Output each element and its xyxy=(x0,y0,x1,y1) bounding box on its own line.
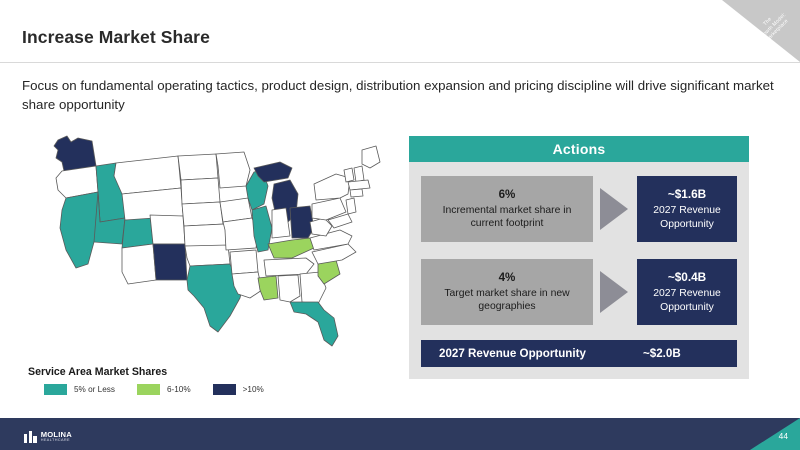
actions-body: 6% Incremental market share in current f… xyxy=(409,162,749,379)
state-arkansas xyxy=(230,250,258,274)
state-kentucky xyxy=(268,238,314,258)
actions-panel: Actions 6% Incremental market share in c… xyxy=(409,136,749,379)
legend-title: Service Area Market Shares xyxy=(28,366,368,378)
legend-item-5-or-less: 5% or Less xyxy=(44,384,115,395)
arrow-right-shape xyxy=(600,188,628,230)
action-value-sublabel: 2027 Revenue Opportunity xyxy=(637,204,737,231)
logo-tagline: HEALTHCARE xyxy=(41,439,72,443)
state-california xyxy=(60,192,100,268)
map-legend: Service Area Market Shares 5% or Less 6-… xyxy=(28,366,368,395)
state-minnesota xyxy=(216,152,250,188)
us-market-share-map xyxy=(18,132,390,360)
actions-total-bar: 2027 Revenue Opportunity ~$2.0B xyxy=(421,340,737,367)
state-north-dakota xyxy=(178,154,218,180)
action-description: Target market share in new geographies xyxy=(427,287,587,314)
state-new-york xyxy=(314,174,350,200)
state-florida xyxy=(290,302,338,346)
molina-healthcare-logo: MOLINA HEALTHCARE xyxy=(24,431,72,443)
logo-wordmark: MOLINA HEALTHCARE xyxy=(41,431,72,443)
state-new-hampshire xyxy=(354,166,364,182)
action-value: ~$0.4B xyxy=(668,270,706,284)
actions-header: Actions xyxy=(409,136,749,162)
state-maine xyxy=(362,146,380,168)
action-row-incremental: 6% Incremental market share in current f… xyxy=(421,176,737,242)
legend-swatch-green xyxy=(137,384,160,395)
legend-swatch-teal xyxy=(44,384,67,395)
state-massachusetts xyxy=(348,180,370,190)
corner-ribbon: The Growth Model: Marketplace xyxy=(722,0,800,62)
action-percent: 6% xyxy=(499,188,516,201)
action-description: Incremental market share in current foot… xyxy=(427,204,587,231)
logo-name: MOLINA xyxy=(41,431,72,439)
actions-total-value: ~$2.0B xyxy=(643,347,681,360)
footer-bar: MOLINA HEALTHCARE 44 xyxy=(0,418,800,450)
arrow-right-shape xyxy=(600,271,628,313)
state-oklahoma xyxy=(185,245,230,266)
legend-items: 5% or Less 6-10% >10% xyxy=(28,384,368,395)
action-value-sublabel: 2027 Revenue Opportunity xyxy=(637,287,737,314)
state-south-dakota xyxy=(181,178,220,204)
logo-bar-3 xyxy=(33,436,36,443)
page-number: 44 xyxy=(779,431,788,441)
logo-bar-2 xyxy=(29,431,32,443)
logo-people-icon xyxy=(24,431,38,443)
state-washington xyxy=(54,136,96,171)
slide-root: The Growth Model: Marketplace Increase M… xyxy=(0,0,800,450)
action-outcome-new-geographies: ~$0.4B 2027 Revenue Opportunity xyxy=(637,259,737,325)
slide-subtitle: Focus on fundamental operating tactics, … xyxy=(22,76,776,114)
actions-total-label: 2027 Revenue Opportunity xyxy=(421,347,643,360)
state-new-jersey xyxy=(346,198,356,214)
footer-accent-shape xyxy=(750,418,800,450)
legend-label-over-10: >10% xyxy=(243,385,264,394)
state-vermont xyxy=(344,168,354,182)
action-row-new-geographies: 4% Target market share in new geographie… xyxy=(421,259,737,325)
state-montana xyxy=(114,156,181,194)
action-outcome-incremental: ~$1.6B 2027 Revenue Opportunity xyxy=(637,176,737,242)
logo-bar-1 xyxy=(24,434,27,443)
legend-label-5-or-less: 5% or Less xyxy=(74,385,115,394)
legend-swatch-navy xyxy=(213,384,236,395)
arrow-right-icon xyxy=(593,259,637,325)
action-percent: 4% xyxy=(499,271,516,284)
state-connecticut xyxy=(350,189,363,197)
arrow-right-icon xyxy=(593,176,637,242)
state-nebraska xyxy=(182,202,223,226)
action-input-new-geographies: 4% Target market share in new geographie… xyxy=(421,259,593,325)
state-arizona xyxy=(122,244,156,284)
state-colorado xyxy=(150,215,185,244)
title-divider xyxy=(0,62,800,63)
state-alabama xyxy=(278,275,300,302)
action-value: ~$1.6B xyxy=(668,187,706,201)
legend-item-over-10: >10% xyxy=(213,384,264,395)
legend-item-6-to-10: 6-10% xyxy=(137,384,191,395)
state-mississippi xyxy=(258,276,278,300)
legend-label-6-to-10: 6-10% xyxy=(167,385,191,394)
action-input-incremental: 6% Incremental market share in current f… xyxy=(421,176,593,242)
page-title: Increase Market Share xyxy=(22,27,210,48)
state-kansas xyxy=(184,224,226,246)
state-new-mexico xyxy=(153,244,187,280)
